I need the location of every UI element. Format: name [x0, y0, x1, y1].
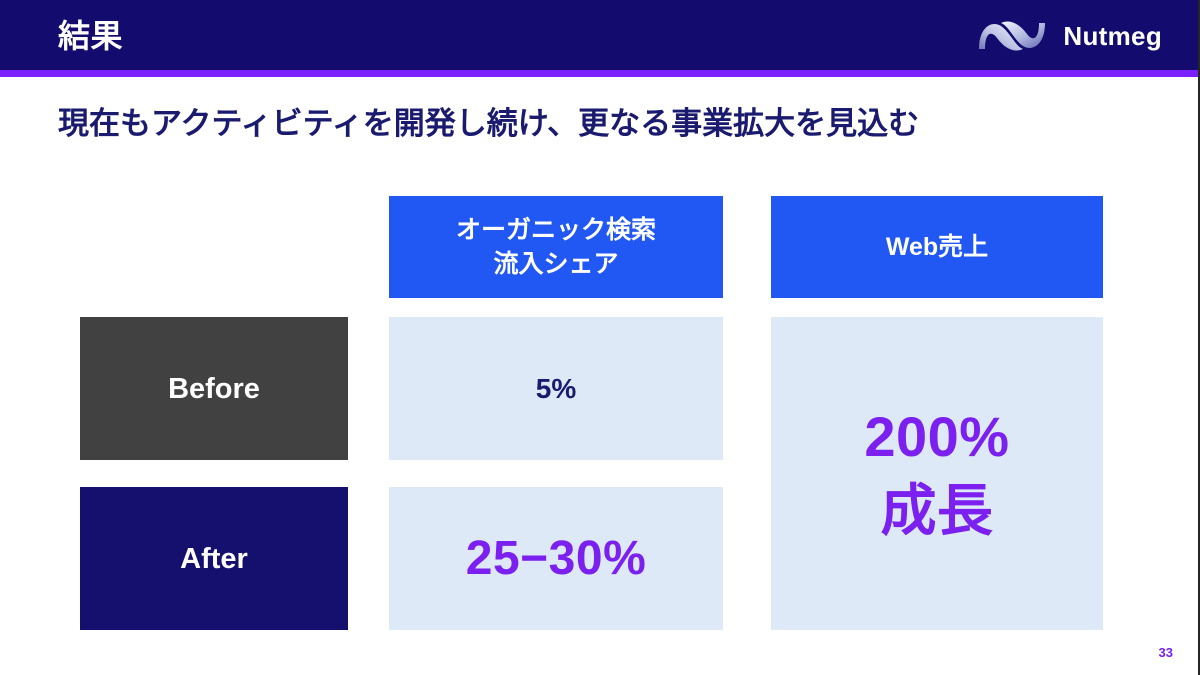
column-header-web-sales: Web売上	[771, 196, 1103, 298]
brand-name: Nutmeg	[1063, 21, 1162, 51]
column-header-organic-search: オーガニック検索 流入シェア	[389, 196, 723, 298]
header-accent-line	[0, 70, 1200, 77]
cell-web-sales-growth-label: 成長	[864, 474, 1009, 548]
row-header-before: Before	[80, 317, 348, 460]
row-header-after-label: After	[180, 542, 248, 576]
column-header-organic-search-line2: 流入シェア	[456, 247, 656, 281]
cell-organic-search-before-value: 5%	[536, 372, 576, 406]
row-header-before-label: Before	[168, 372, 260, 406]
column-header-web-sales-label: Web売上	[886, 230, 988, 264]
cell-organic-search-before: 5%	[389, 317, 723, 460]
brand-logo: Nutmeg	[975, 14, 1162, 58]
slide: 結果 Nutmeg 現在もアクティビティを開発し続け、更なる事業拡大を見込む	[0, 0, 1200, 675]
row-header-after: After	[80, 487, 348, 630]
slide-subtitle: 現在もアクティビティを開発し続け、更なる事業拡大を見込む	[58, 103, 919, 145]
cell-web-sales-growth: 200% 成長	[771, 317, 1103, 630]
cell-organic-search-after: 25−30%	[389, 487, 723, 630]
column-header-organic-search-line1: オーガニック検索	[456, 213, 656, 247]
nutmeg-ribbon-n-logo-icon	[975, 16, 1049, 56]
cell-organic-search-after-value: 25−30%	[466, 531, 647, 587]
page-number: 33	[1159, 645, 1173, 661]
cell-web-sales-growth-value: 200%	[864, 400, 1009, 474]
page-title: 結果	[58, 16, 123, 56]
